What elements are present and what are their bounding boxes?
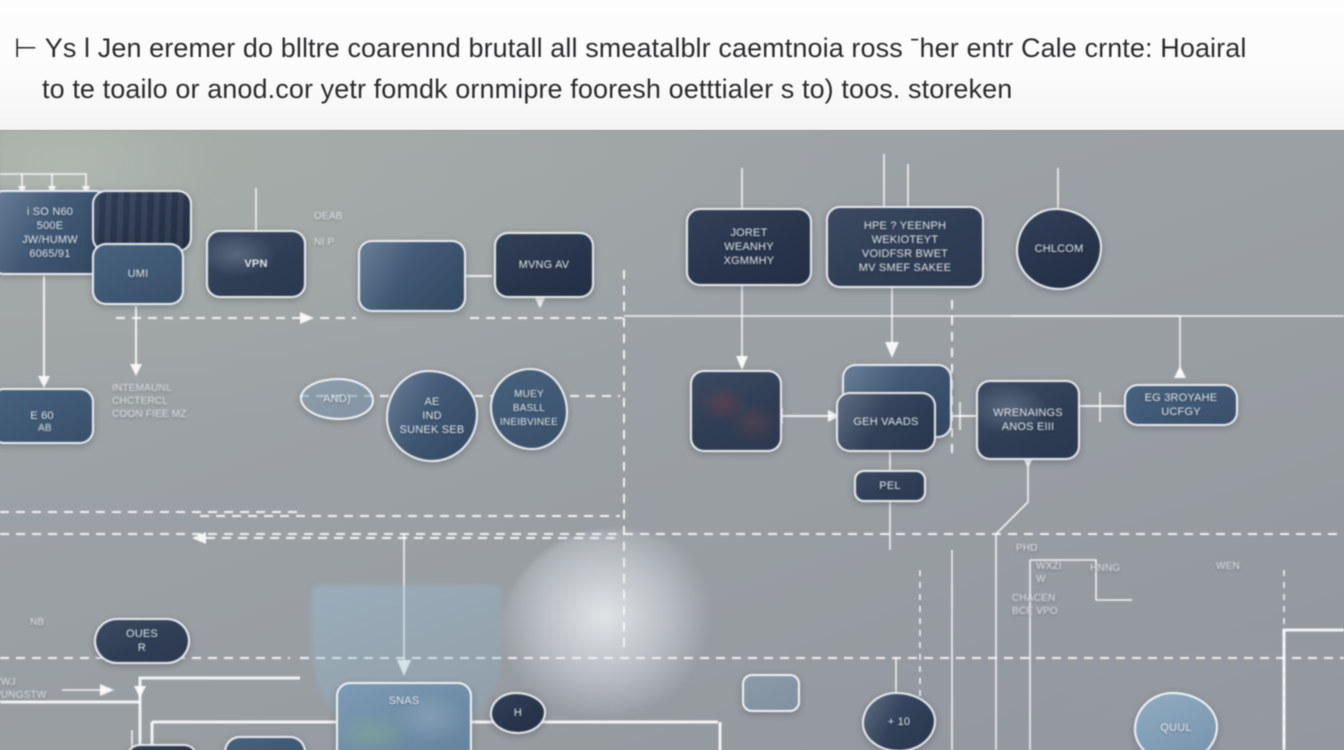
flow-node-label: AND)	[323, 392, 351, 406]
flow-node-label: CHLCOM	[1035, 242, 1084, 256]
node-texture	[692, 372, 780, 450]
flow-node-label: JORET WEANHY XGMMHY	[724, 226, 775, 268]
diagram-canvas: i SO N60 500E JW/HUMW 6065/91 UMI VPN MV…	[0, 130, 1344, 750]
flow-node-label: MVNG AV	[519, 258, 570, 272]
flow-node-label: + 10	[888, 715, 911, 729]
flow-node-label: EG 3ROYAHE UCFGY	[1145, 391, 1218, 419]
flow-node[interactable]: PEL	[854, 470, 926, 502]
flow-node-label: H	[514, 706, 522, 720]
flow-node[interactable]: SNAS	[336, 682, 472, 750]
flow-node-label: PEL	[879, 479, 900, 493]
flow-node-label: OUES R	[126, 627, 158, 655]
flow-node[interactable]: + 10	[862, 692, 936, 750]
flow-node[interactable]	[224, 736, 306, 750]
flow-node-label: QUUL	[1160, 721, 1191, 735]
flow-node[interactable]: H	[490, 692, 546, 734]
flow-node[interactable]	[742, 674, 800, 712]
flow-node-label: E 60	[30, 409, 53, 423]
edge-label: HNNG	[1090, 562, 1120, 575]
edge-label: CHACEN BCE VPO	[1012, 592, 1058, 618]
edge-annotation: YWJ PUNGSTW	[0, 676, 90, 702]
flow-node[interactable]: WRENAINGS ANOS EIII	[976, 380, 1080, 460]
flow-node[interactable]: JORET WEANHY XGMMHY	[686, 208, 812, 286]
flow-node-label: UMI	[128, 267, 149, 281]
header-line-2: to te toailo or anod.cor yetr fomdk ornm…	[14, 69, 1330, 110]
flow-node-label: VPN	[244, 257, 267, 271]
edge-label: PHD	[1016, 542, 1038, 555]
flow-node[interactable]: FM	[126, 744, 198, 750]
edge-label: WXZI W	[1036, 560, 1062, 586]
node-texture	[94, 192, 190, 250]
flow-node[interactable]: MVNG AV	[494, 232, 594, 298]
flow-node-label: HPE ? YEENPH WEKIOTEYT VOIDFSR BWET MV S…	[859, 219, 951, 275]
flow-node[interactable]: OUES R	[94, 618, 190, 664]
edge-label: NB	[30, 616, 44, 629]
flow-node[interactable]: UMI	[92, 243, 184, 305]
edge-label: NI P	[314, 236, 334, 249]
flow-node[interactable]: AND)	[300, 378, 374, 420]
flow-node[interactable]: MUEY BASLL INEIBVINEE	[490, 368, 568, 450]
flow-node-label: MUEY BASLL INEIBVINEE	[498, 388, 560, 430]
flow-node[interactable]: HPE ? YEENPH WEKIOTEYT VOIDFSR BWET MV S…	[826, 206, 984, 288]
edge-annotation: INTEMAUNL CHCTERCL COON FIEE MZ	[112, 382, 236, 421]
flow-node-label: AE IND SUNEK SEB	[400, 395, 465, 437]
flow-node[interactable]: GEH VAADS	[836, 392, 936, 452]
flow-node-label: GEH VAADS	[853, 415, 918, 429]
flow-node[interactable]: E 60	[0, 388, 94, 444]
connector-layer	[0, 130, 1344, 750]
edge-label: WEN	[1216, 560, 1240, 573]
node-texture	[360, 242, 464, 310]
flow-node[interactable]: AE IND SUNEK SEB	[386, 370, 478, 462]
screenshot-root: ⊢ Ys l Jen eremer do blltre coarennd bru…	[0, 0, 1344, 750]
flow-node-label: SNAS	[389, 694, 420, 708]
flow-node[interactable]	[690, 370, 782, 452]
edge-label: AB	[38, 422, 52, 435]
flow-node[interactable]	[358, 240, 466, 312]
flow-node[interactable]: CHLCOM	[1016, 208, 1102, 290]
flowchart: i SO N60 500E JW/HUMW 6065/91 UMI VPN MV…	[0, 130, 1344, 750]
flow-node-label: WRENAINGS ANOS EIII	[993, 406, 1063, 434]
header-line-1: ⊢ Ys l Jen eremer do blltre coarennd bru…	[14, 28, 1330, 69]
flow-node-label: i SO N60 500E JW/HUMW 6065/91	[22, 205, 78, 261]
header-caption-band: ⊢ Ys l Jen eremer do blltre coarennd bru…	[0, 0, 1344, 130]
edge-label: OEAB	[314, 210, 343, 223]
flow-node[interactable]: VPN	[206, 230, 306, 298]
flow-node[interactable]: EG 3ROYAHE UCFGY	[1124, 384, 1238, 426]
